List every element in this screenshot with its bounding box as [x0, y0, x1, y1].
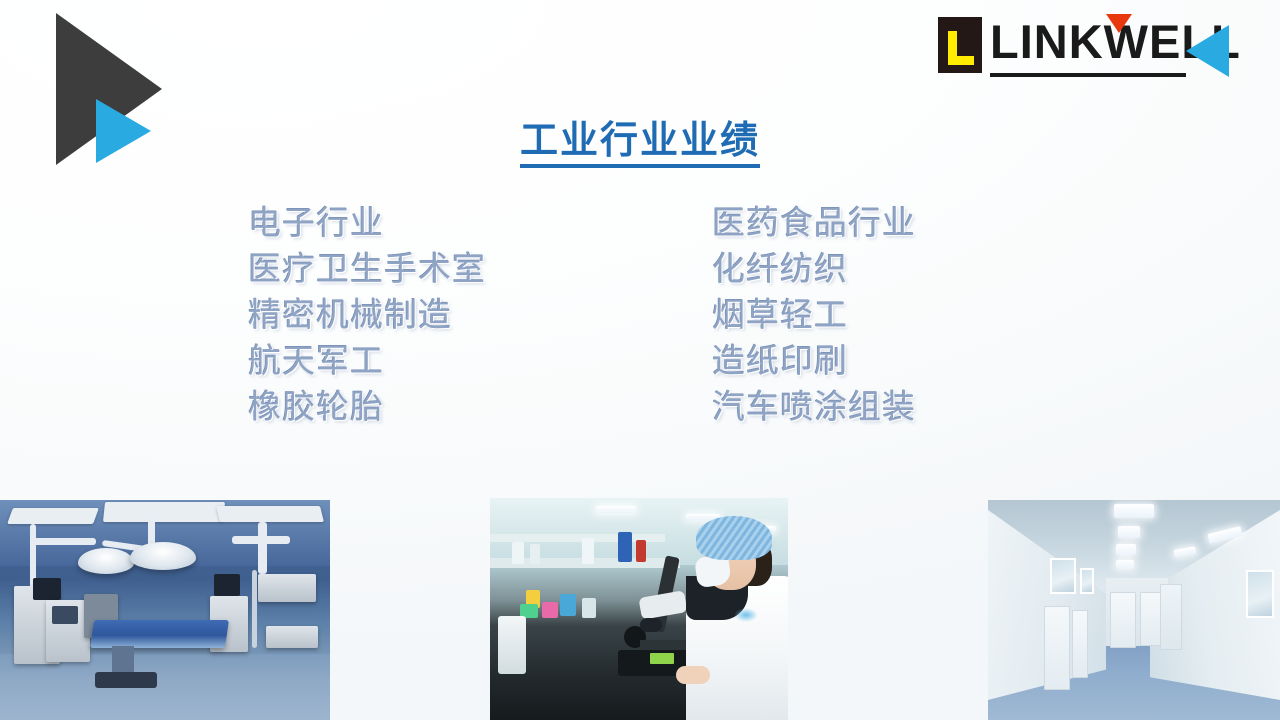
reagent-bottle [582, 538, 594, 564]
industry-list: 电子行业 医疗卫生手术室 精密机械制造 航天军工 橡胶轮胎 医药食品行业 化纤纺… [0, 200, 1280, 430]
clear-container [582, 598, 596, 618]
pink-container [542, 602, 558, 618]
pendant-arm [258, 522, 267, 574]
list-item: 航天军工 [248, 338, 486, 384]
iv-pole [252, 570, 257, 648]
logo-blue-triangle-icon [1186, 25, 1229, 77]
presentation-slide: LINKWELL 工业行业业绩 电子行业 医疗卫生手术室 精密机械制造 航天军工… [0, 0, 1280, 720]
operating-table [90, 620, 229, 648]
hand [676, 666, 710, 684]
operating-table-foot [95, 672, 157, 688]
linkwell-logo: LINKWELL [938, 13, 1238, 79]
pass-through-door [1044, 606, 1070, 690]
pendant-arm [232, 536, 290, 544]
list-item: 电子行业 [248, 200, 486, 246]
list-item: 汽车喷涂组装 [712, 384, 916, 430]
ceiling-light [1116, 544, 1136, 555]
industry-list-right-column: 医药食品行业 化纤纺织 烟草轻工 造纸印刷 汽车喷涂组装 [712, 200, 916, 430]
laboratory-scene [490, 498, 788, 720]
ceiling-light [1116, 560, 1134, 569]
ceiling-panel [7, 508, 99, 524]
surgical-lamp [130, 542, 196, 570]
list-item: 烟草轻工 [712, 292, 916, 338]
side-table [266, 626, 318, 648]
operating-room-scene [0, 500, 330, 720]
microscope-eyepiece [638, 590, 687, 620]
logo-red-triangle-icon [1106, 14, 1132, 33]
list-item: 化纤纺织 [712, 246, 916, 292]
logo-letter-l-icon [948, 31, 974, 65]
red-bottle [636, 540, 646, 562]
pass-through-door [1072, 610, 1088, 678]
microscope-display [650, 653, 674, 664]
logo-underline [990, 73, 1186, 77]
ceiling-panel [216, 506, 324, 522]
blue-bottle [618, 532, 632, 562]
cleanroom-scene [988, 500, 1280, 720]
pendant-arm [30, 538, 96, 545]
reagent-bottle [530, 544, 540, 564]
coat-logo [734, 608, 758, 622]
surgical-lamp [78, 548, 134, 574]
monitor [214, 574, 240, 596]
photo-laboratory-microscope [490, 498, 788, 720]
photo-operating-room [0, 500, 330, 720]
wall-window [1246, 570, 1274, 618]
monitor [52, 606, 78, 624]
wash-bottle [498, 616, 526, 674]
industry-list-left-column: 电子行业 医疗卫生手术室 精密机械制造 航天军工 橡胶轮胎 [248, 200, 486, 430]
photo-cleanroom-corridor [988, 500, 1280, 720]
corridor-door [1160, 584, 1182, 650]
ceiling-panel [103, 502, 225, 522]
slide-title-text: 工业行业业绩 [520, 118, 760, 168]
ceiling-light [1118, 526, 1140, 538]
corridor-door [1110, 592, 1136, 648]
ceiling-light [596, 506, 636, 513]
list-item: 橡胶轮胎 [248, 384, 486, 430]
blue-container [560, 594, 576, 616]
wall-window [1050, 558, 1076, 594]
list-item: 造纸印刷 [712, 338, 916, 384]
list-item: 医疗卫生手术室 [248, 246, 486, 292]
logo-mark-box [938, 17, 982, 73]
wall-unit [258, 574, 316, 602]
hair-net-cap [696, 516, 772, 560]
gloved-hand [640, 618, 662, 632]
monitor [33, 578, 61, 600]
wall-window [1080, 568, 1094, 594]
slide-title: 工业行业业绩 [0, 118, 1280, 168]
ceiling-light [1114, 504, 1154, 518]
list-item: 医药食品行业 [712, 200, 916, 246]
reagent-bottle [512, 542, 524, 564]
list-item: 精密机械制造 [248, 292, 486, 338]
